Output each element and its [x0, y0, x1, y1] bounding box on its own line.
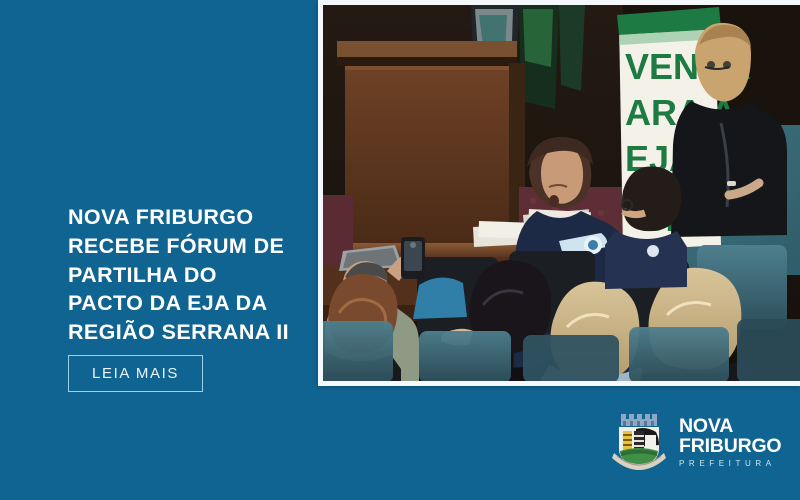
event-photo: VENHA ARA A EJA BP: [323, 5, 800, 381]
page-title: NOVA FRIBURGO RECEBE FÓRUM DE PARTILHA D…: [68, 203, 318, 347]
logo-line-2: FRIBURGO: [679, 436, 781, 456]
coat-of-arms-icon: [608, 411, 670, 473]
read-more-button[interactable]: LEIA MAIS: [68, 355, 203, 392]
logo-subtitle: PREFEITURA: [679, 459, 781, 468]
read-more-label: LEIA MAIS: [92, 365, 179, 382]
logo-line-1: NOVA: [679, 416, 781, 436]
photo-frame: VENHA ARA A EJA BP: [318, 0, 800, 386]
prefeitura-logo: NOVA FRIBURGO PREFEITURA: [608, 408, 788, 476]
logo-wordmark: NOVA FRIBURGO PREFEITURA: [679, 416, 781, 468]
news-banner: NOVA FRIBURGO RECEBE FÓRUM DE PARTILHA D…: [0, 0, 800, 500]
